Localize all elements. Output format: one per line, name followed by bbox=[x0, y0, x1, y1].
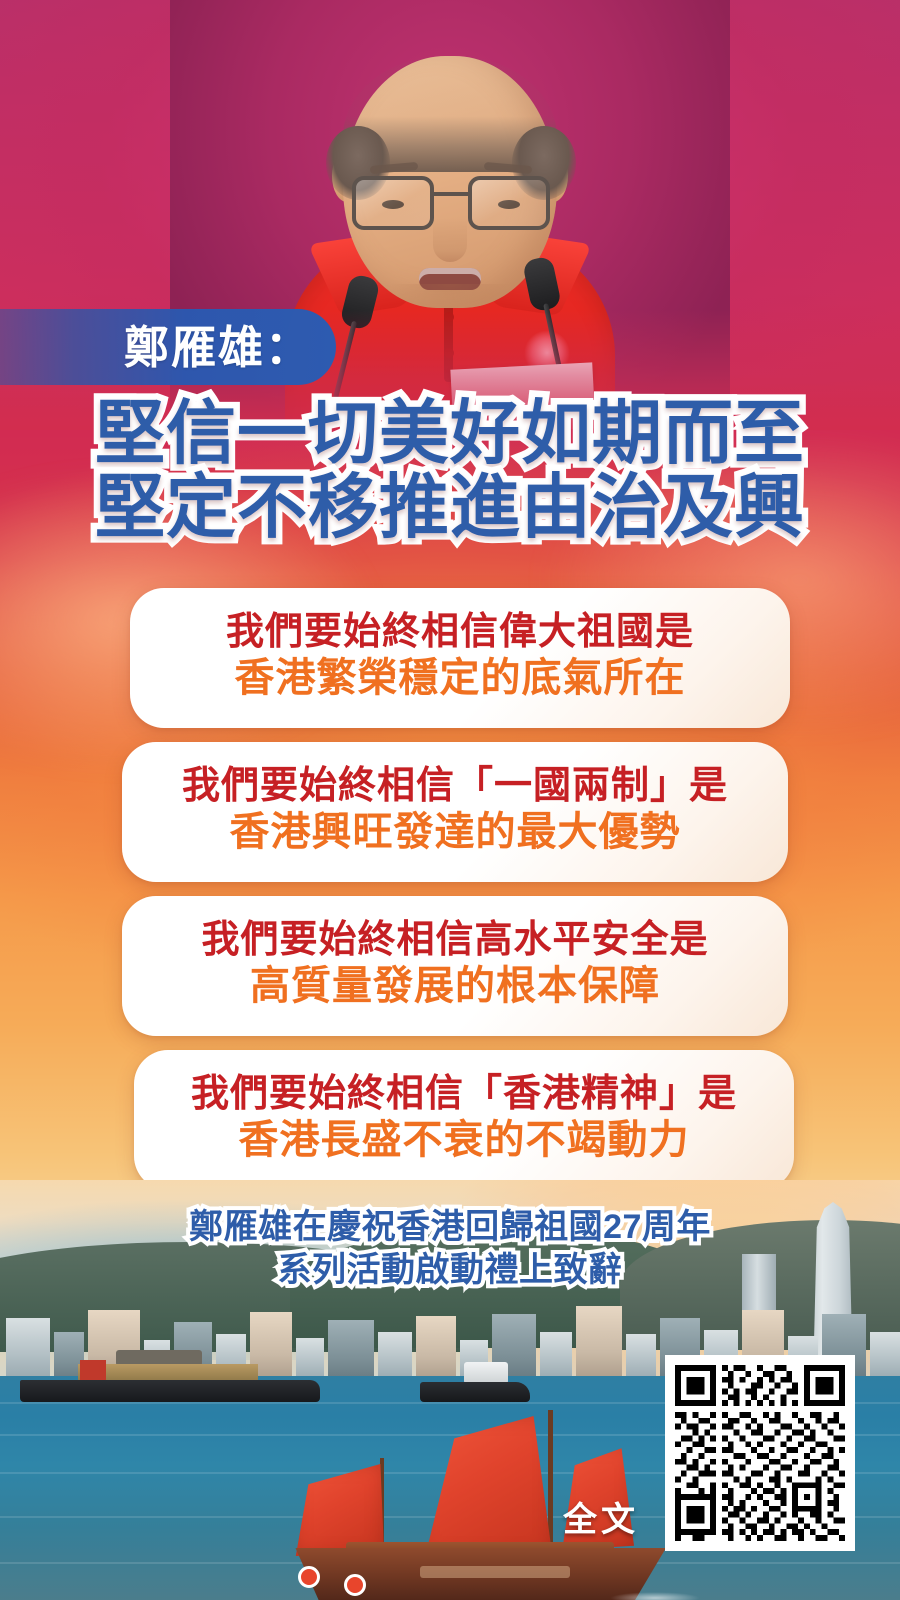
quote-card: 我們要始終相信偉大祖國是 香港繁榮穩定的底氣所在 bbox=[130, 588, 790, 728]
quote-line-secondary: 香港長盛不衰的不竭動力 bbox=[239, 1117, 690, 1164]
quote-line-primary: 我們要始終相信「香港精神」是 bbox=[191, 1072, 737, 1117]
junk-hull-stripe bbox=[420, 1566, 570, 1578]
boat-wake bbox=[610, 1592, 700, 1600]
junk-sail-main bbox=[420, 1416, 552, 1556]
building bbox=[328, 1320, 374, 1384]
tug-wheelhouse bbox=[464, 1362, 508, 1384]
quote-line-primary: 我們要始終相信「一國兩制」是 bbox=[182, 764, 728, 809]
building bbox=[576, 1306, 622, 1384]
life-buoy-icon bbox=[298, 1566, 320, 1588]
quote-line-primary: 我們要始終相信偉大祖國是 bbox=[226, 610, 694, 655]
quote-line-secondary: 香港興旺發達的最大優勢 bbox=[230, 809, 681, 856]
event-caption: 鄭雁雄在慶祝香港回歸祖國27周年 系列活動啟動禮上致辭 bbox=[0, 1206, 900, 1292]
quote-card: 我們要始終相信「香港精神」是 香港長盛不衰的不竭動力 bbox=[134, 1050, 794, 1190]
tug-hull bbox=[420, 1382, 530, 1402]
qr-code-container[interactable] bbox=[665, 1355, 855, 1551]
tug-boat bbox=[420, 1362, 530, 1402]
poster-root: 鄭雁雄： 堅信一切美好如期而至 堅定不移推進由治及興 我們要始終相信偉大祖國是 … bbox=[0, 0, 900, 1600]
quote-line-secondary: 香港繁榮穩定的底氣所在 bbox=[235, 655, 686, 702]
cargo-barge bbox=[20, 1356, 320, 1402]
caption-line-1: 鄭雁雄在慶祝香港回歸祖國27周年 bbox=[0, 1206, 900, 1249]
quote-line-primary: 我們要始終相信高水平安全是 bbox=[201, 918, 708, 963]
quote-card: 我們要始終相信高水平安全是 高質量發展的根本保障 bbox=[122, 896, 788, 1036]
barge-hull bbox=[20, 1380, 320, 1402]
barge-cabin bbox=[80, 1360, 106, 1382]
qr-code-icon[interactable] bbox=[675, 1365, 845, 1541]
life-buoy-icon bbox=[344, 1574, 366, 1596]
qr-full-text-label: 全文 bbox=[563, 1492, 639, 1541]
quote-card: 我們要始終相信「一國兩制」是 香港興旺發達的最大優勢 bbox=[122, 742, 788, 882]
quote-line-secondary: 高質量發展的根本保障 bbox=[250, 963, 660, 1010]
caption-line-2: 系列活動啟動禮上致辭 bbox=[0, 1249, 900, 1292]
